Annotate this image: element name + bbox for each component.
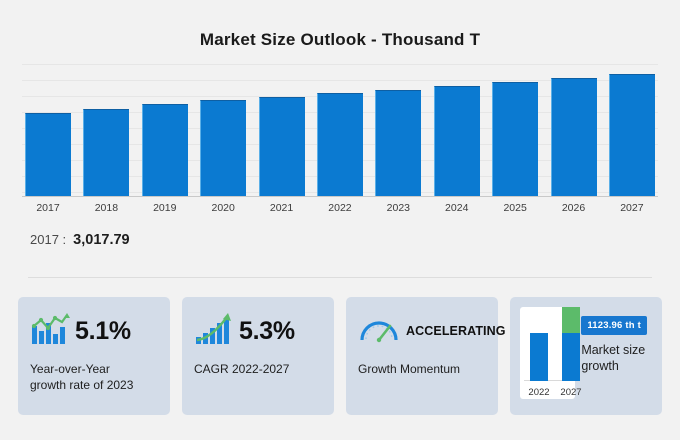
kpi-caption-momentum: Growth Momentum	[358, 361, 486, 377]
mini-bar-label-2027: 2027	[556, 387, 586, 398]
value-readout: 2017 :3,017.79	[30, 232, 130, 248]
kpi-caption-yoy-line2: growth rate of 2023	[30, 377, 158, 393]
bar[interactable]	[434, 86, 480, 196]
kpi-caption-cagr: CAGR 2022-2027	[194, 361, 322, 377]
kpi-caption-yoy-line1: Year-over-Year	[30, 361, 158, 377]
growth-card-caption-line1: Market size	[581, 342, 652, 358]
kpi-card-row: 5.1% Year-over-Year growth rate of 2023 …	[18, 297, 662, 417]
mini-bar-label-2022: 2022	[524, 387, 554, 398]
chart-bar-2020[interactable]	[197, 64, 249, 196]
chart-bar-2024[interactable]	[431, 64, 483, 196]
growth-card-caption-line2: growth	[581, 358, 652, 374]
section-divider	[28, 277, 652, 278]
kpi-card-growth-momentum[interactable]: ACCELERATING Growth Momentum	[346, 297, 498, 415]
x-label-2018: 2018	[80, 200, 132, 218]
kpi-caption-momentum-line1: Growth Momentum	[358, 361, 486, 377]
bar[interactable]	[375, 90, 421, 196]
x-label-2027: 2027	[606, 200, 658, 218]
chart-bar-2017[interactable]	[22, 64, 74, 196]
chart-bar-2018[interactable]	[80, 64, 132, 196]
gauge-icon	[358, 314, 402, 349]
x-label-2026: 2026	[548, 200, 600, 218]
chart-bar-2025[interactable]	[489, 64, 541, 196]
growth-value-badge: 1123.96 th t	[581, 316, 647, 335]
chart-x-axis-labels: 2017201820192020202120222023202420252026…	[22, 200, 658, 218]
growth-card-caption: Market size growth	[581, 342, 652, 374]
kpi-card-yoy-growth[interactable]: 5.1% Year-over-Year growth rate of 2023	[18, 297, 170, 415]
chart-bar-2021[interactable]	[256, 64, 308, 196]
bar[interactable]	[551, 78, 597, 196]
kpi-card-market-size-growth[interactable]: 2022 2027 1123.96 th t Market size growt…	[510, 297, 662, 415]
bar[interactable]	[142, 104, 188, 196]
bar[interactable]	[25, 113, 71, 196]
x-label-2017: 2017	[22, 200, 74, 218]
mini-bar-chart-icon: 2022 2027	[520, 307, 575, 399]
kpi-value-momentum: ACCELERATING	[406, 324, 506, 338]
chart-axis-line	[22, 196, 658, 197]
x-label-2020: 2020	[197, 200, 249, 218]
kpi-caption-cagr-line1: CAGR 2022-2027	[194, 361, 322, 377]
x-label-2022: 2022	[314, 200, 366, 218]
kpi-caption-yoy: Year-over-Year growth rate of 2023	[30, 361, 158, 393]
x-label-2019: 2019	[139, 200, 191, 218]
bar-chart	[22, 64, 658, 196]
kpi-card-cagr[interactable]: 5.3% CAGR 2022-2027	[182, 297, 334, 415]
chart-bar-2019[interactable]	[139, 64, 191, 196]
bar-line-growth-icon	[30, 312, 70, 351]
x-label-2023: 2023	[372, 200, 424, 218]
kpi-value-cagr: 5.3%	[239, 317, 295, 346]
x-label-2021: 2021	[256, 200, 308, 218]
bar[interactable]	[200, 100, 246, 196]
x-label-2025: 2025	[489, 200, 541, 218]
chart-bar-2023[interactable]	[372, 64, 424, 196]
readout-value: 3,017.79	[73, 232, 129, 248]
chart-bar-2027[interactable]	[606, 64, 658, 196]
chart-bar-2022[interactable]	[314, 64, 366, 196]
readout-year: 2017 :	[30, 232, 66, 247]
bar[interactable]	[492, 82, 538, 196]
bar-arrow-up-icon	[194, 312, 234, 351]
bar[interactable]	[609, 74, 655, 196]
chart-bars	[22, 64, 658, 196]
page-title: Market Size Outlook - Thousand T	[0, 30, 680, 50]
bar[interactable]	[83, 109, 129, 196]
chart-bar-2026[interactable]	[548, 64, 600, 196]
kpi-value-yoy: 5.1%	[75, 317, 131, 346]
bar[interactable]	[259, 97, 305, 196]
bar[interactable]	[317, 93, 363, 196]
x-label-2024: 2024	[431, 200, 483, 218]
